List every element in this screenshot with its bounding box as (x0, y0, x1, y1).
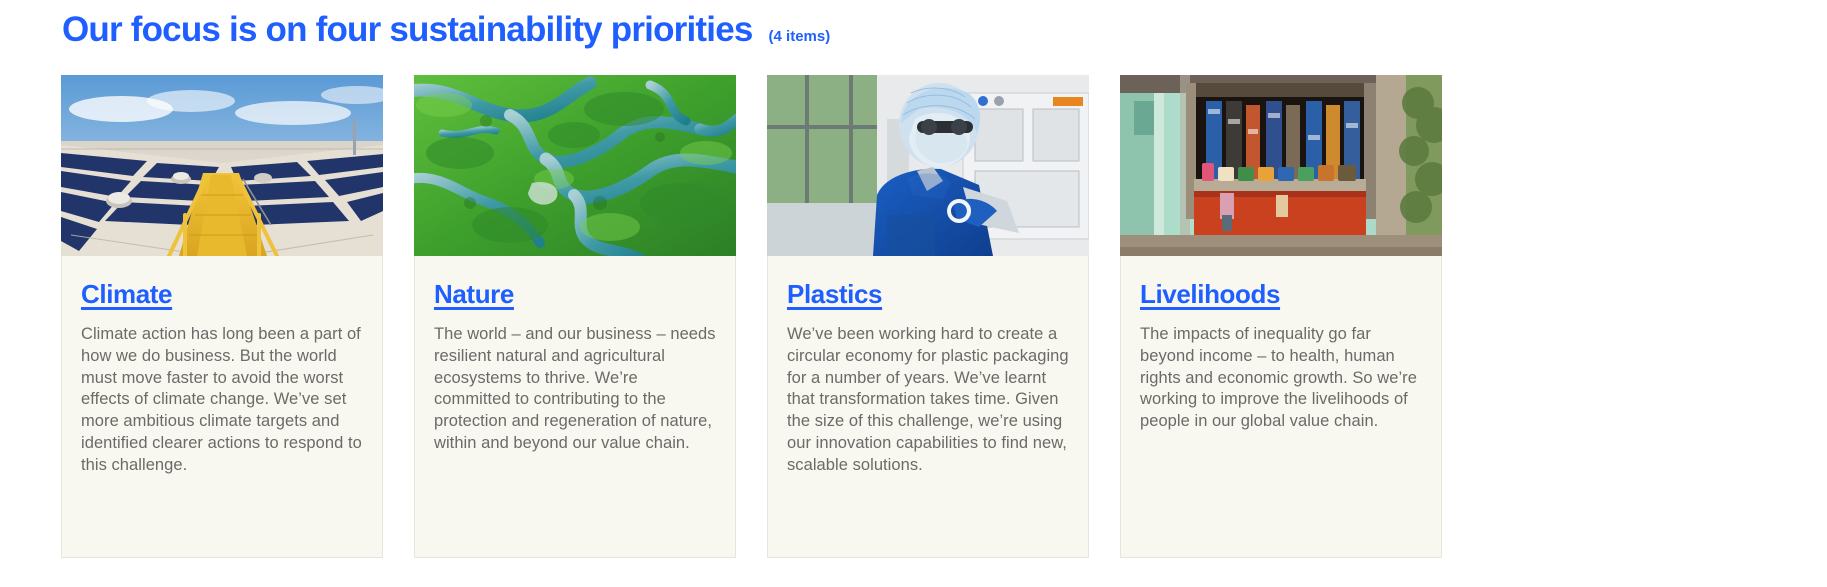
priority-card-nature[interactable]: Nature The world – and our business – ne… (414, 76, 736, 558)
card-description: Climate action has long been a part of h… (81, 324, 363, 477)
priority-card-livelihoods[interactable]: Livelihoods The impacts of inequality go… (1120, 76, 1442, 558)
card-link-livelihoods[interactable]: Livelihoods (1140, 278, 1280, 310)
card-body: Plastics We’ve been working hard to crea… (768, 256, 1088, 557)
card-link-plastics[interactable]: Plastics (787, 278, 882, 310)
item-count-label: (4 items) (769, 27, 831, 47)
solar-panel-rooftop-photo (61, 75, 383, 256)
section-heading: Our focus is on four sustainability prio… (62, 8, 830, 52)
factory-worker-lab-coat-photo (767, 75, 1089, 256)
card-body: Climate Climate action has long been a p… (62, 256, 382, 557)
priority-card-climate[interactable]: Climate Climate action has long been a p… (61, 76, 383, 558)
card-description: The world – and our business – needs res… (434, 324, 716, 455)
page-title: Our focus is on four sustainability prio… (62, 8, 753, 52)
priority-card-plastics[interactable]: Plastics We’ve been working hard to crea… (767, 76, 1089, 558)
card-body: Livelihoods The impacts of inequality go… (1121, 256, 1441, 557)
priority-cards-grid: Climate Climate action has long been a p… (61, 76, 1445, 558)
card-link-climate[interactable]: Climate (81, 278, 172, 310)
sustainability-priorities-page: Our focus is on four sustainability prio… (0, 0, 1827, 587)
card-body: Nature The world – and our business – ne… (415, 256, 735, 557)
card-description: We’ve been working hard to create a circ… (787, 324, 1069, 477)
aerial-mangrove-river-photo (414, 75, 736, 256)
small-shop-storefront-photo (1120, 75, 1442, 256)
card-description: The impacts of inequality go far beyond … (1140, 324, 1422, 433)
card-link-nature[interactable]: Nature (434, 278, 514, 310)
